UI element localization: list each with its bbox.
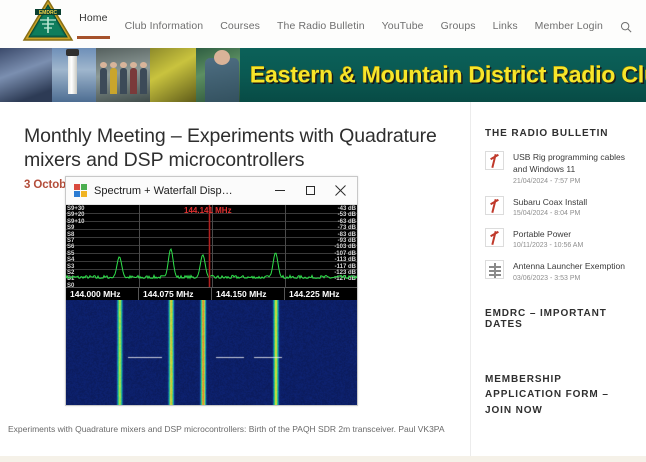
content-area: Monthly Meeting – Experiments with Quadr… xyxy=(0,102,646,462)
bulletin-text: Antenna Launcher Exemption 03/06/2023 - … xyxy=(513,260,632,281)
frequency-marker-line xyxy=(209,205,210,287)
spectrum-waterfall-window: Spectrum + Waterfall Disp… xyxy=(65,176,358,406)
frequency-axis-row: 144.000 MHz 144.075 MHz 144.150 MHz 144.… xyxy=(66,287,357,300)
freq-label: 144.075 MHz xyxy=(139,288,212,300)
spectrum-trace xyxy=(66,205,357,287)
emdrc-logo-icon: EMDRC xyxy=(22,0,74,44)
image-caption: Experiments with Quadrature mixers and D… xyxy=(8,424,445,434)
bulletin-title: Antenna Launcher Exemption xyxy=(513,260,632,272)
bulletin-date: 10/11/2023 - 10:56 AM xyxy=(513,242,632,249)
person-figure xyxy=(120,68,127,94)
waterfall-canvas xyxy=(66,300,357,405)
sidebar: THE RADIO BULLETIN USB Rig programming c… xyxy=(470,102,646,462)
nav-item-courses[interactable]: Courses xyxy=(220,20,260,32)
footer-strip xyxy=(0,456,646,462)
list-item[interactable]: Antenna Launcher Exemption 03/06/2023 - … xyxy=(485,260,632,281)
nav-item-member-login[interactable]: Member Login xyxy=(535,20,603,32)
banner-photo-4 xyxy=(150,48,200,102)
bulletin-title: USB Rig programming cables and Windows 1… xyxy=(513,151,632,176)
nav-item-links[interactable]: Links xyxy=(493,20,518,32)
cable-icon xyxy=(485,228,504,247)
cable-icon xyxy=(485,196,504,215)
person-figure xyxy=(100,68,107,94)
person-figure xyxy=(130,68,137,94)
freq-label: 144.225 MHz xyxy=(285,288,357,300)
person-figure xyxy=(140,68,147,94)
nav-item-groups[interactable]: Groups xyxy=(441,20,476,32)
banner-photo-collage xyxy=(0,48,240,102)
banner-title: Eastern & Mountain District Radio Club I… xyxy=(250,62,646,89)
nav-item-youtube[interactable]: YouTube xyxy=(382,20,424,32)
page-title: Monthly Meeting – Experiments with Quadr… xyxy=(24,124,450,172)
operator-figure xyxy=(205,58,239,102)
close-icon xyxy=(335,185,346,196)
search-icon[interactable] xyxy=(620,21,632,33)
list-item[interactable]: Subaru Coax Install 15/04/2024 - 8:04 PM xyxy=(485,196,632,217)
bulletin-text: USB Rig programming cables and Windows 1… xyxy=(513,151,632,185)
sidebar-heading-membership: MEMBERSHIP APPLICATION FORM – JOIN NOW xyxy=(485,372,632,419)
bulletin-date: 21/04/2024 - 7:57 PM xyxy=(513,178,632,185)
page-root: EMDRC Home Club Information Courses The … xyxy=(0,0,646,462)
site-banner: Eastern & Mountain District Radio Club I… xyxy=(0,48,646,102)
window-titlebar: Spectrum + Waterfall Disp… xyxy=(66,177,357,205)
nav-item-home[interactable]: Home xyxy=(79,12,107,39)
nav-links: Home Club Information Courses The Radio … xyxy=(79,12,632,39)
window-title: Spectrum + Waterfall Disp… xyxy=(94,185,265,197)
bulletin-date: 03/06/2023 - 3:53 PM xyxy=(513,275,632,282)
spectrum-graph: S9+30 S9+20 S9+10 S9 S8 S7 S6 S5 S4 S3 S… xyxy=(66,205,357,287)
minimize-button[interactable] xyxy=(265,178,295,204)
list-item[interactable]: Portable Power 10/11/2023 - 10:56 AM xyxy=(485,228,632,249)
app-icon xyxy=(74,184,87,197)
person-figure xyxy=(110,68,117,94)
sidebar-block-membership[interactable]: MEMBERSHIP APPLICATION FORM – JOIN NOW xyxy=(485,372,632,419)
bulletin-list: USB Rig programming cables and Windows 1… xyxy=(485,151,632,282)
sidebar-heading-radio-bulletin: THE RADIO BULLETIN xyxy=(485,128,632,139)
tower-icon xyxy=(485,260,504,279)
bulletin-title: Portable Power xyxy=(513,228,632,240)
main-column: Monthly Meeting – Experiments with Quadr… xyxy=(0,102,470,462)
site-logo[interactable]: EMDRC xyxy=(22,0,78,48)
banner-photo-1 xyxy=(0,48,60,102)
close-button[interactable] xyxy=(325,178,355,204)
bulletin-date: 15/04/2024 - 8:04 PM xyxy=(513,210,632,217)
bulletin-title: Subaru Coax Install xyxy=(513,196,632,208)
list-item[interactable]: USB Rig programming cables and Windows 1… xyxy=(485,151,632,185)
cable-icon xyxy=(485,151,504,170)
frequency-marker-label: 144.141 MHz xyxy=(184,206,232,215)
top-navigation-bar: EMDRC Home Club Information Courses The … xyxy=(0,0,646,48)
waterfall-display xyxy=(66,300,357,405)
freq-label: 144.000 MHz xyxy=(66,288,139,300)
maximize-button[interactable] xyxy=(295,178,325,204)
freq-label: 144.150 MHz xyxy=(212,288,285,300)
sidebar-heading-important-dates: EMDRC – IMPORTANT DATES xyxy=(485,308,632,330)
sidebar-block-important-dates[interactable]: EMDRC – IMPORTANT DATES xyxy=(485,308,632,330)
bulletin-text: Subaru Coax Install 15/04/2024 - 8:04 PM xyxy=(513,196,632,217)
lighthouse-graphic xyxy=(68,54,77,94)
spectrum-body: S9+30 S9+20 S9+10 S9 S8 S7 S6 S5 S4 S3 S… xyxy=(66,205,357,405)
nav-item-the-radio-bulletin[interactable]: The Radio Bulletin xyxy=(277,20,365,32)
nav-item-club-information[interactable]: Club Information xyxy=(125,20,204,32)
people-group-graphic xyxy=(100,68,147,94)
svg-text:EMDRC: EMDRC xyxy=(39,10,58,16)
bulletin-text: Portable Power 10/11/2023 - 10:56 AM xyxy=(513,228,632,249)
